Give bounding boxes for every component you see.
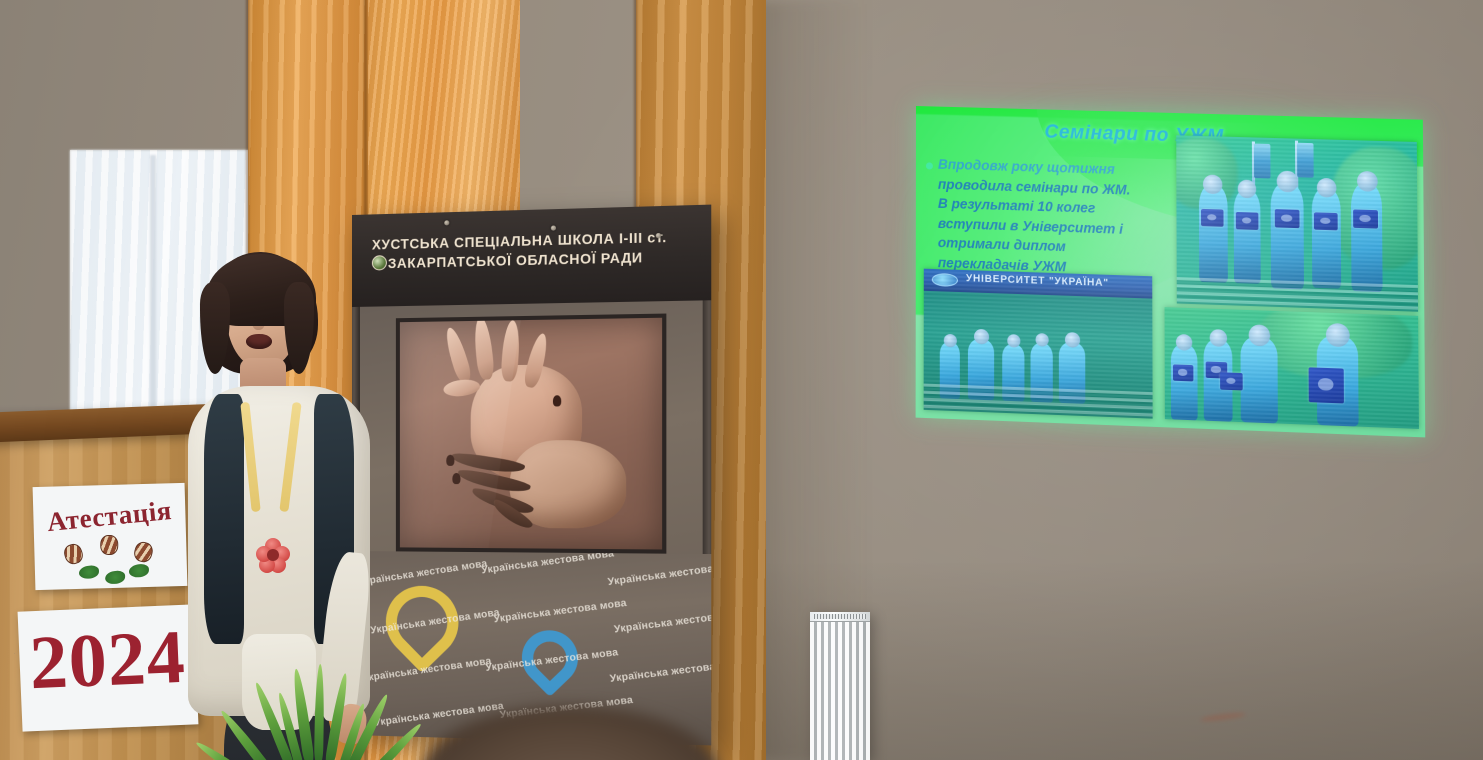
poster-screw — [444, 220, 449, 225]
photo-glare — [396, 314, 524, 554]
person-head — [1176, 334, 1192, 351]
person-head — [1249, 324, 1271, 346]
diploma — [1201, 209, 1224, 227]
attestation-sign-text: Атестація — [33, 494, 187, 540]
sign-language-hands-photo — [396, 314, 666, 554]
photo-graduates-flags — [1176, 135, 1418, 311]
university-logo-icon — [932, 273, 958, 287]
person-head — [1238, 180, 1257, 199]
slide-surface: Семінари по УЖМ Впродовж року щотижняпро… — [916, 106, 1426, 437]
diploma — [1275, 209, 1300, 228]
radiator — [810, 612, 870, 760]
flower-pin-icon — [256, 538, 290, 572]
poster-watermark-text: Українська жестова мова — [607, 560, 711, 588]
diploma — [1353, 209, 1378, 228]
university-sign-text: УНІВЕРСИТЕТ "УКРАЇНА" — [966, 273, 1109, 289]
poster-watermark-text: Українська жестова мова — [613, 608, 711, 636]
poster-title: ХУСТСЬКА СПЕЦІАЛЬНА ШКОЛА I-III ст. ЗАКА… — [372, 228, 703, 274]
spider-plant — [242, 660, 432, 760]
slide-body-text: Впродовж року щотижняпроводила семінари … — [938, 155, 1203, 282]
diploma — [1236, 212, 1259, 230]
person-head — [1326, 323, 1350, 347]
bee-icon — [100, 535, 118, 555]
fingernail — [553, 395, 561, 406]
photo-university-entrance: УНІВЕРСИТЕТ "УКРАЇНА" — [924, 269, 1153, 419]
person — [1199, 184, 1228, 282]
person-head — [1210, 329, 1228, 347]
person-head — [1036, 333, 1049, 347]
radiator-top-cap — [810, 612, 870, 622]
person-head — [1357, 171, 1378, 192]
projected-slide: Семінари по УЖМ Впродовж року щотижняпро… — [916, 106, 1426, 437]
person-head — [1277, 171, 1299, 193]
poster-watermark-text: Українська жестова мова — [609, 658, 711, 685]
diploma — [1309, 367, 1344, 403]
person — [1351, 183, 1383, 292]
speaker-vest-left — [204, 394, 244, 644]
person-head — [944, 334, 957, 348]
plant-leaf — [314, 664, 325, 760]
poster-watermark-text: Українська жестова мова — [493, 598, 628, 626]
radiator-fins — [810, 621, 870, 760]
attestation-sign: Атестація — [33, 483, 188, 590]
flower-center — [267, 549, 279, 561]
wall-bottom-shadow — [690, 560, 1483, 760]
photo-women-diplomas — [1165, 307, 1419, 429]
person — [1240, 336, 1277, 423]
bee-icon — [132, 540, 154, 564]
conference-room-photo: ХУСТСЬКА СПЕЦІАЛЬНА ШКОЛА I-III ст. ЗАКА… — [0, 0, 1483, 760]
person — [1271, 183, 1304, 290]
year-sign-text: 2024 — [18, 618, 197, 701]
poster-screw — [551, 225, 556, 230]
flag — [1297, 143, 1314, 178]
slide-bullet-icon — [926, 162, 933, 169]
person — [1171, 344, 1198, 420]
leaf-icon — [129, 564, 149, 578]
person-head — [974, 329, 989, 345]
flag — [1254, 144, 1271, 179]
speaker-mouth — [246, 334, 272, 349]
person — [1312, 188, 1341, 289]
poster-header: ХУСТСЬКА СПЕЦІАЛЬНА ШКОЛА I-III ст. ЗАКА… — [352, 205, 711, 307]
leaf-icon — [79, 565, 99, 579]
diploma — [1173, 364, 1194, 381]
person — [1234, 190, 1261, 284]
leaf-icon — [105, 571, 125, 585]
bee-icon — [62, 542, 85, 567]
diploma — [1314, 212, 1338, 230]
poster-watermark-text: Українська жестова мова — [481, 551, 615, 576]
person-head — [1203, 174, 1223, 194]
diploma — [1220, 372, 1243, 390]
person-head — [1317, 178, 1337, 198]
year-sign: 2024 — [18, 604, 199, 731]
person-head — [1065, 332, 1080, 348]
person-head — [1007, 334, 1020, 348]
